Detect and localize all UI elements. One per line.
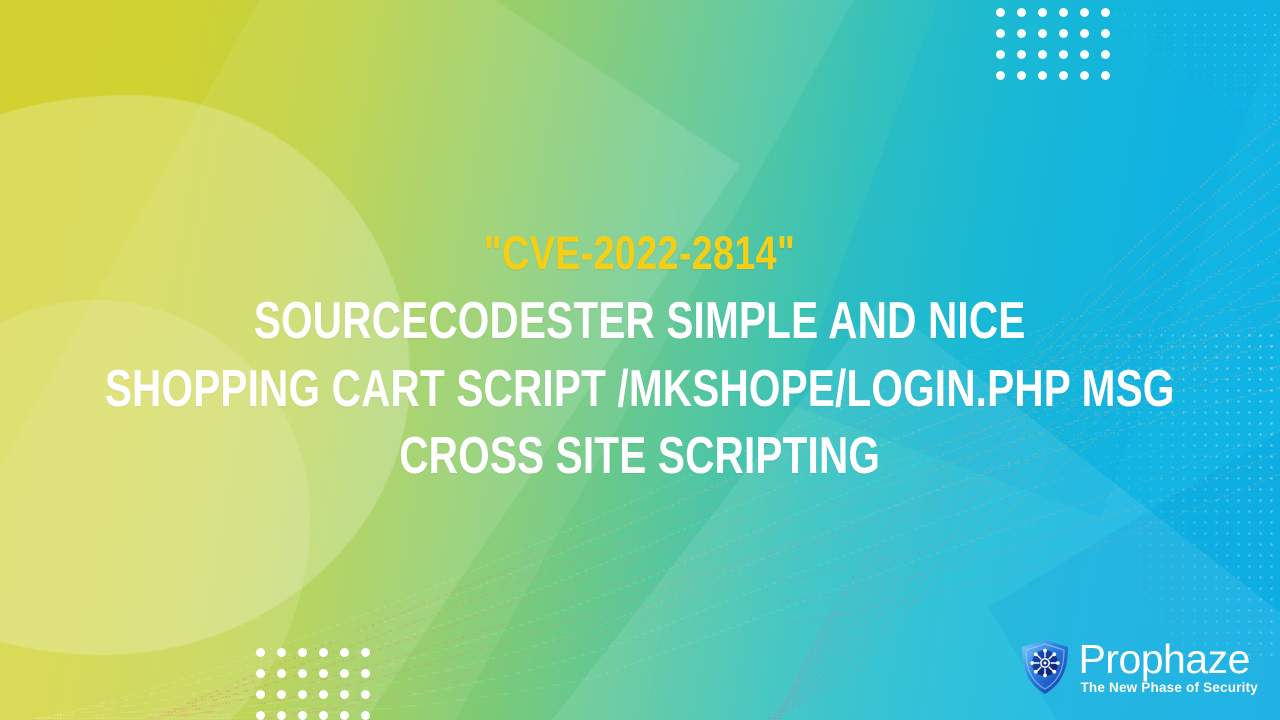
logo-wordmark: Prophaze	[1078, 640, 1250, 679]
logo-text-block: Prophaze The New Phase of Security	[1078, 640, 1258, 694]
cve-identifier: "CVE-2022-2814"	[484, 229, 795, 276]
headline-line-2: SHOPPING CART SCRIPT /MKSHOPE/LOGIN.PHP …	[105, 356, 1175, 424]
shield-kubernetes-helm-icon	[1018, 638, 1072, 696]
prophaze-logo[interactable]: Prophaze The New Phase of Security	[1018, 638, 1258, 696]
banner-content: "CVE-2022-2814" SOURCECODESTER SIMPLE AN…	[0, 0, 1280, 720]
banner-headline: SOURCECODESTER SIMPLE AND NICE SHOPPING …	[0, 288, 1280, 491]
logo-tagline: The New Phase of Security	[1078, 681, 1258, 695]
headline-line-1: SOURCECODESTER SIMPLE AND NICE	[105, 288, 1175, 356]
headline-line-3: CROSS SITE SCRIPTING	[105, 423, 1175, 491]
cve-announcement-banner: "CVE-2022-2814" SOURCECODESTER SIMPLE AN…	[0, 0, 1280, 720]
